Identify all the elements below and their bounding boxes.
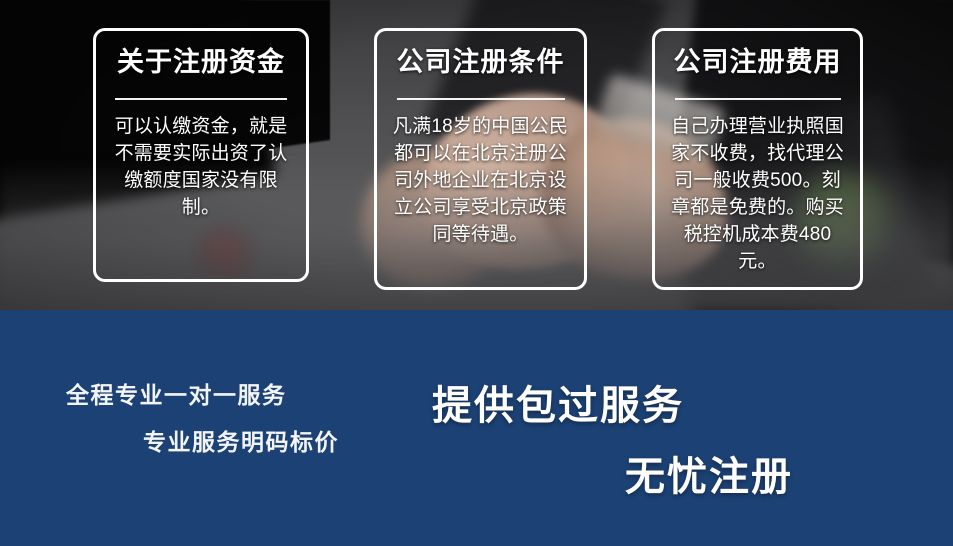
slogan-small-transparent-pricing: 专业服务明码标价 — [143, 423, 339, 457]
info-card-divider — [397, 98, 565, 100]
slogan-small-one-to-one-service: 全程专业一对一服务 — [66, 376, 287, 410]
slogan-banner: 全程专业一对一服务 专业服务明码标价 提供包过服务 无忧注册 — [0, 310, 953, 546]
info-card-title: 公司注册费用 — [674, 47, 842, 78]
info-card-body: 自己办理营业执照国家不收费，找代理公司一般收费500。刻章都是免费的。购买税控机… — [667, 114, 848, 276]
info-card-divider — [675, 98, 841, 100]
info-card-registration-conditions[interactable]: 公司注册条件 凡满18岁的中国公民都可以在北京注册公司外地企业在北京设立公司享受… — [374, 28, 587, 290]
info-card-title: 关于注册资金 — [117, 47, 285, 78]
info-card-body: 凡满18岁的中国公民都可以在北京注册公司外地企业在北京设立公司享受北京政策同等待… — [389, 114, 572, 249]
info-card-body: 可以认缴资金，就是不需要实际出资了认缴额度国家没有限制。 — [108, 114, 294, 222]
promo-banner-page: 关于注册资金 可以认缴资金，就是不需要实际出资了认缴额度国家没有限制。 公司注册… — [0, 0, 953, 546]
info-card-divider — [115, 98, 287, 100]
info-card-registration-fees[interactable]: 公司注册费用 自己办理营业执照国家不收费，找代理公司一般收费500。刻章都是免费… — [652, 28, 863, 290]
slogan-large-guaranteed-service: 提供包过服务 — [432, 373, 684, 431]
hero-section: 关于注册资金 可以认缴资金，就是不需要实际出资了认缴额度国家没有限制。 公司注册… — [0, 0, 953, 310]
info-card-title: 公司注册条件 — [397, 47, 565, 78]
info-card-registered-capital[interactable]: 关于注册资金 可以认缴资金，就是不需要实际出资了认缴额度国家没有限制。 — [93, 28, 309, 282]
slogan-large-worry-free-registration: 无忧注册 — [625, 444, 793, 502]
